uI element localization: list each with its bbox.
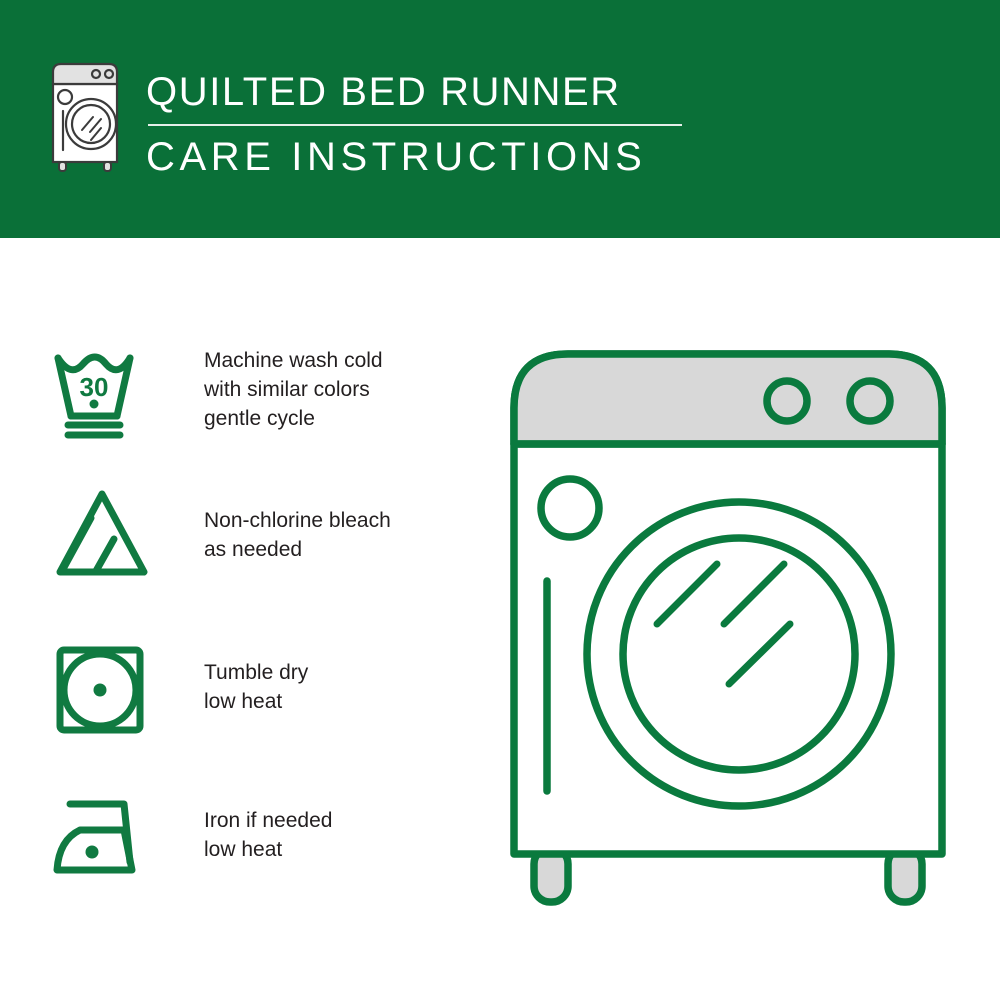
page-title: QUILTED BED RUNNER	[146, 66, 766, 118]
care-instructions-infographic: QUILTED BED RUNNER CARE INSTRUCTIONS	[0, 0, 1000, 1000]
iron-low-heat-icon	[52, 788, 160, 889]
care-text-iron: Iron if needed low heat	[204, 788, 332, 864]
page-subtitle: CARE INSTRUCTIONS	[146, 130, 766, 184]
care-instructions-list: 30 Machine wash cold with similar colors…	[0, 238, 470, 1000]
header-title-block: QUILTED BED RUNNER CARE INSTRUCTIONS	[146, 66, 766, 184]
wash-temperature-label: 30	[80, 372, 109, 402]
care-row-bleach: Non-chlorine bleach as needed	[52, 486, 452, 587]
washing-machine-icon	[44, 62, 128, 174]
care-row-machine-wash: 30 Machine wash cold with similar colors…	[52, 346, 452, 447]
care-text-machine-wash: Machine wash cold with similar colors ge…	[204, 346, 383, 433]
non-chlorine-bleach-triangle-icon	[52, 486, 160, 587]
title-divider	[148, 124, 682, 126]
care-row-tumble-dry: Tumble dry low heat	[52, 642, 452, 743]
care-text-tumble-dry: Tumble dry low heat	[204, 642, 308, 716]
machine-wash-30-gentle-icon: 30	[52, 346, 160, 447]
washing-machine-illustration	[492, 336, 964, 926]
tumble-dry-low-icon	[52, 642, 160, 743]
header-band: QUILTED BED RUNNER CARE INSTRUCTIONS	[0, 0, 1000, 238]
care-text-bleach: Non-chlorine bleach as needed	[204, 486, 391, 564]
care-row-iron: Iron if needed low heat	[52, 788, 452, 889]
